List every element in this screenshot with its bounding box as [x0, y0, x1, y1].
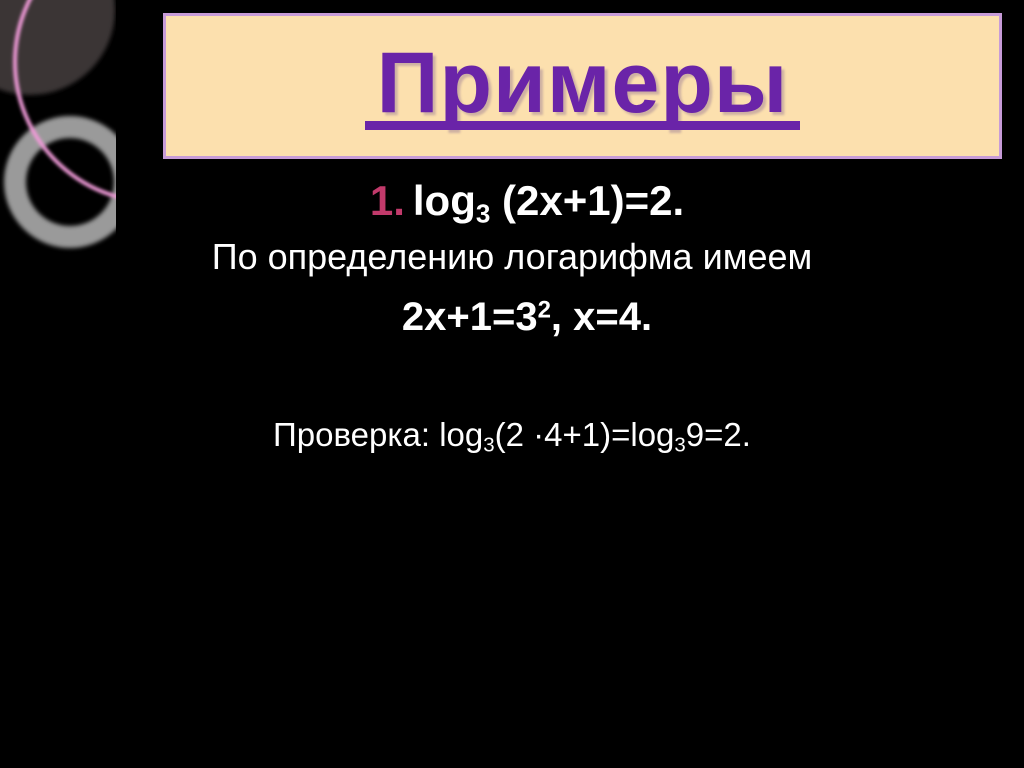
decor-pink-arc — [15, 0, 116, 202]
log-base-2: 3 — [483, 434, 494, 457]
list-marker-1: 1. — [370, 177, 413, 224]
verification-line: Проверка: log3(2 ·4+1)=log39=2. — [0, 417, 1024, 453]
solution-right: , x=4. — [551, 295, 652, 339]
slide-canvas: Примеры 1.log3 (2x+1)=2. По определению … — [0, 0, 1024, 768]
log-base-3: 3 — [674, 434, 685, 457]
solution-exponent: 2 — [538, 296, 551, 323]
slide-body: 1.log3 (2x+1)=2. По определению логарифм… — [0, 178, 1024, 453]
example-item-1: 1.log3 (2x+1)=2. — [30, 178, 1024, 223]
page-title: Примеры — [377, 40, 789, 132]
definition-sentence: По определению логарифма имеем — [0, 237, 1024, 277]
equation-1-rest: (2x+1)=2. — [490, 177, 684, 224]
log-keyword-2: log — [439, 416, 483, 453]
log-keyword-1: log — [413, 177, 476, 224]
verification-label: Проверка: — [273, 416, 439, 453]
solution-left: 2x+1=3 — [402, 295, 538, 339]
verification-tail: 9=2. — [686, 416, 751, 453]
verification-middle: (2 ·4+1)=log — [495, 416, 675, 453]
log-base-1: 3 — [476, 198, 490, 228]
title-banner: Примеры — [163, 13, 1002, 159]
title-underline-bar — [365, 121, 801, 130]
decor-gray-circle — [0, 0, 115, 95]
page-title-label: Примеры — [377, 35, 789, 131]
solution-equation: 2x+1=32, x=4. — [30, 295, 1024, 339]
